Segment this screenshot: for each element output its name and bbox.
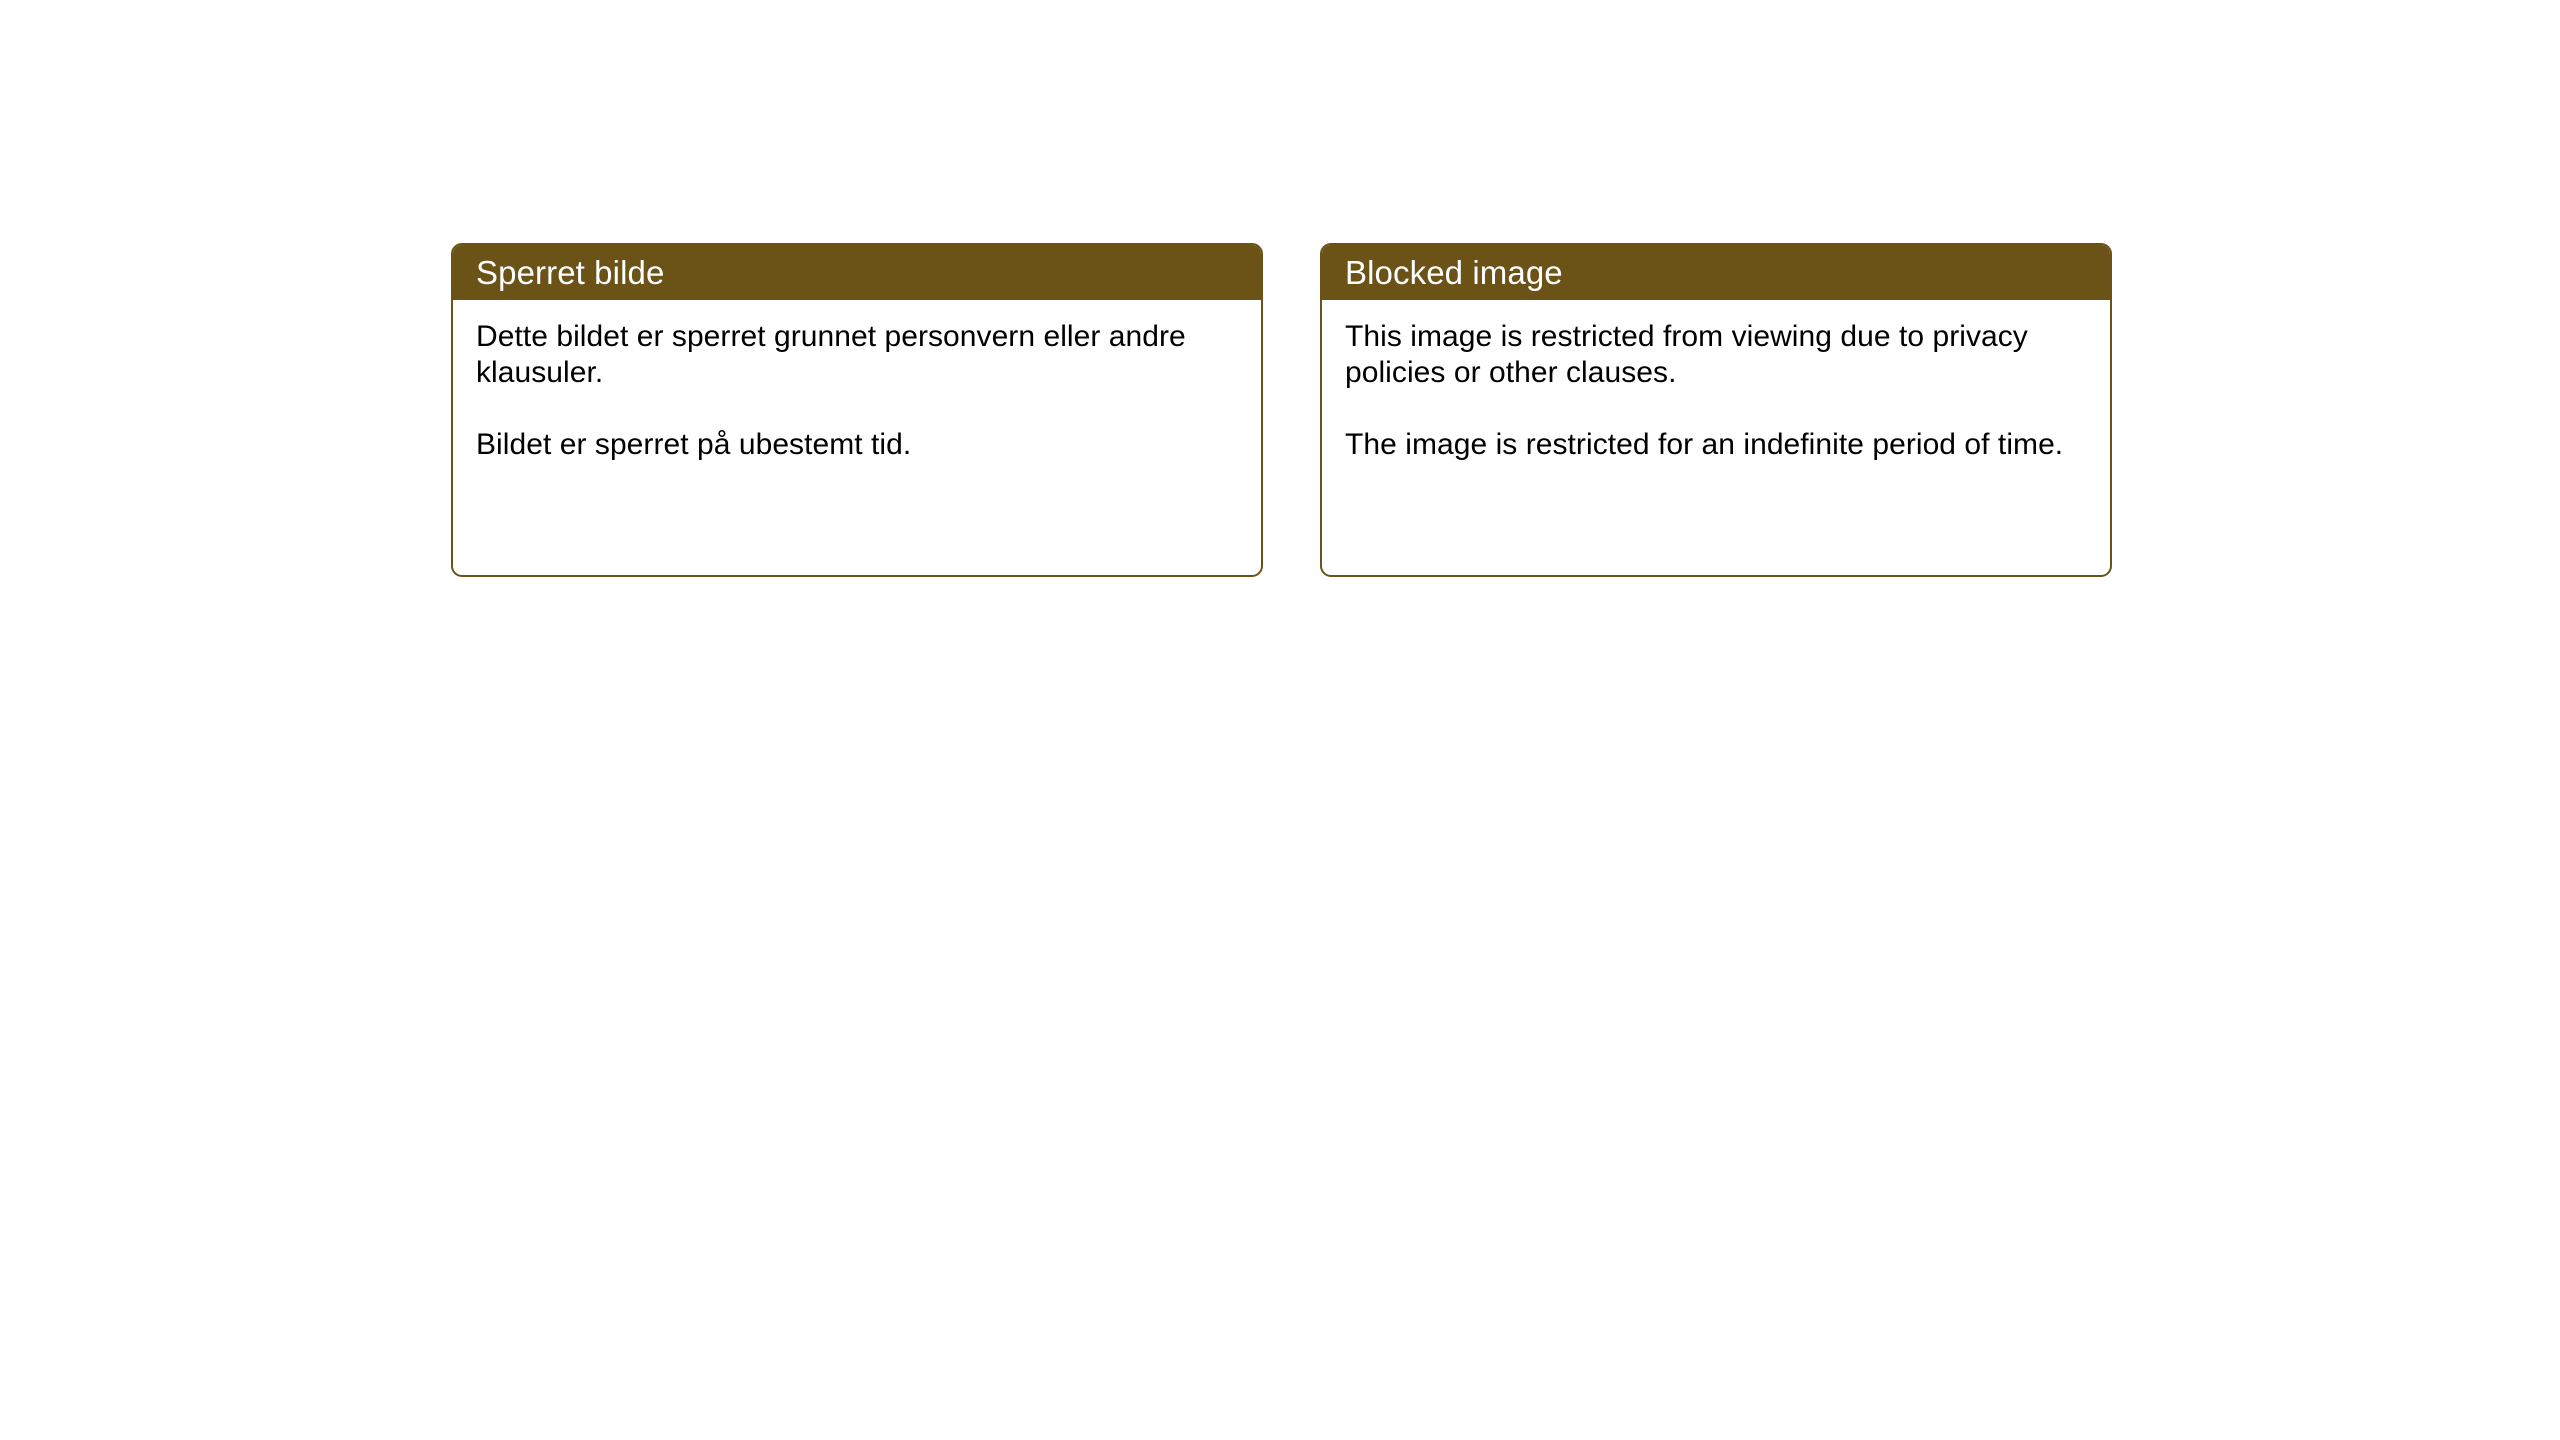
notice-body-english: This image is restricted from viewing du… [1322,300,2110,463]
notice-paragraph-primary-english: This image is restricted from viewing du… [1345,319,2088,391]
notice-title-norwegian: Sperret bilde [476,256,664,289]
notice-title-english: Blocked image [1345,256,1563,289]
notice-paragraph-primary-norwegian: Dette bildet er sperret grunnet personve… [476,319,1239,391]
page-canvas: Sperret bilde Dette bildet er sperret gr… [0,0,2560,1440]
notice-header-english: Blocked image [1322,245,2110,300]
blocked-image-notice-english: Blocked image This image is restricted f… [1320,243,2112,577]
notice-header-norwegian: Sperret bilde [453,245,1261,300]
notice-body-norwegian: Dette bildet er sperret grunnet personve… [453,300,1261,463]
notice-paragraph-secondary-norwegian: Bildet er sperret på ubestemt tid. [476,427,1239,463]
blocked-image-notice-norwegian: Sperret bilde Dette bildet er sperret gr… [451,243,1263,577]
notice-paragraph-secondary-english: The image is restricted for an indefinit… [1345,427,2088,463]
